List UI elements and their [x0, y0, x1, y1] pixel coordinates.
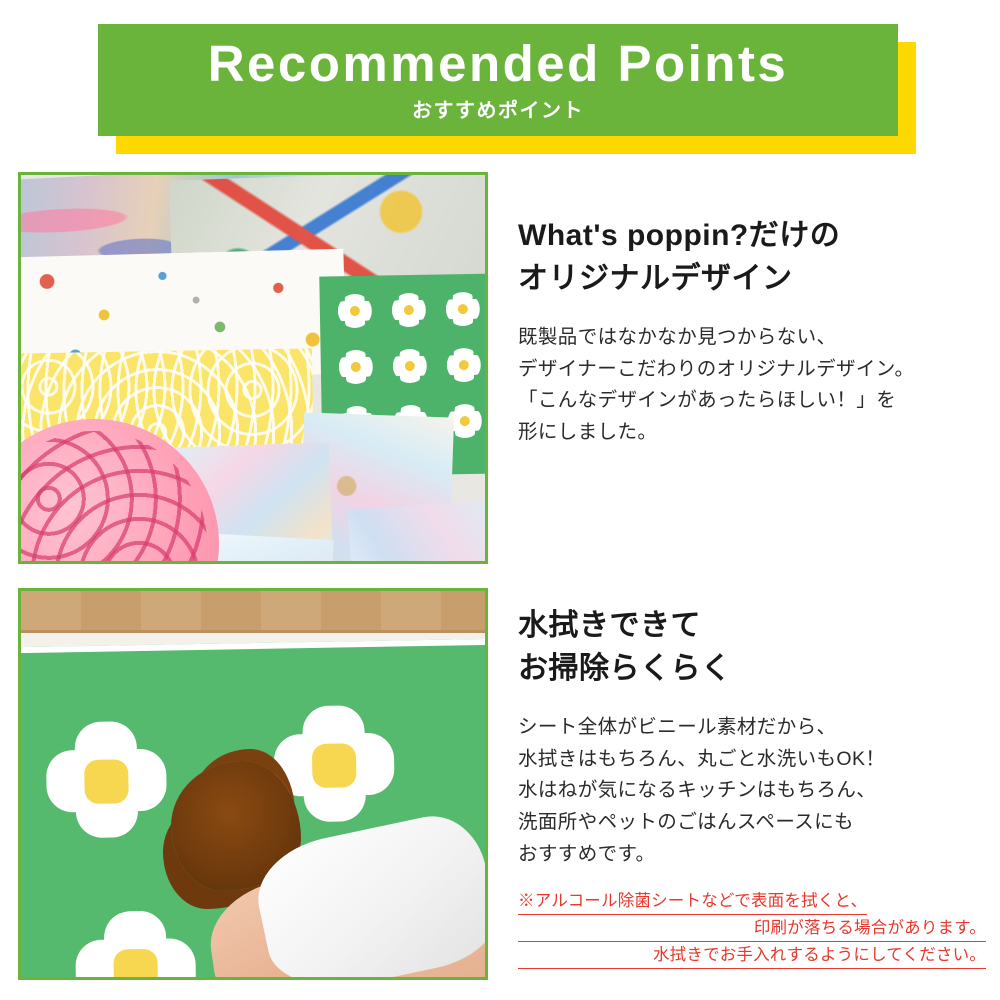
header-banner: Recommended Points おすすめポイント [98, 24, 916, 154]
section-2-body-line-4: 洗面所やペットのごはんスペースにも [518, 807, 986, 839]
flower-icon [446, 292, 481, 327]
flower-icon [79, 914, 193, 980]
section-2-body-line-5: おすすめです。 [518, 839, 986, 871]
flower-icon [339, 350, 374, 385]
section-1-body-line-2: デザイナーこだわりのオリジナルデザイン。 [518, 354, 986, 386]
section-1-body: 既製品ではなかなか見つからない、 デザイナーこだわりのオリジナルデザイン。 「こ… [518, 322, 986, 448]
section-1-heading-line-1: What's poppin?だけの [518, 215, 986, 258]
section-2-text: 水拭きできて お掃除らくらく シート全体がビニール素材だから、 水拭きはもちろん… [518, 605, 986, 969]
section-2-photo [18, 588, 488, 980]
section-2-body-line-3: 水はねが気になるキッチンはもちろん、 [518, 775, 986, 807]
section-2-heading: 水拭きできて お掃除らくらく [518, 605, 986, 690]
section-2-body-line-2: 水拭きはもちろん、丸ごと水洗いもOK！ [518, 744, 986, 776]
section-1-photo [18, 172, 488, 564]
page-subtitle: おすすめポイント [412, 94, 584, 123]
flower-icon [392, 293, 427, 328]
wipe-demo-illustration [21, 591, 485, 977]
flower-icon [338, 294, 373, 329]
section-1-body-line-1: 既製品ではなかなか見つからない、 [518, 322, 986, 354]
section-2-note: ※アルコール除菌シートなどで表面を拭くと、 印刷が落ちる場合があります。 水拭き… [518, 888, 986, 969]
flower-icon [393, 349, 428, 384]
section-1-text: What's poppin?だけの オリジナルデザイン 既製品ではなかなか見つか… [518, 215, 986, 449]
section-2-body-line-1: シート全体がビニール素材だから、 [518, 712, 986, 744]
flower-icon [49, 725, 163, 839]
section-1-body-line-4: 形にしました。 [518, 417, 986, 449]
page-root: Recommended Points おすすめポイント [0, 0, 1000, 1000]
section-2-heading-line-2: お掃除らくらく [518, 648, 986, 691]
section-2-heading-line-1: 水拭きできて [518, 605, 986, 648]
flower-icon [447, 348, 482, 383]
sheet-marble-c [347, 500, 488, 564]
section-2-note-line-3: 水拭きでお手入れするようにしてください。 [518, 942, 986, 969]
section-1-heading-line-2: オリジナルデザイン [518, 258, 986, 301]
section-2-note-line-2: 印刷が落ちる場合があります。 [518, 915, 986, 942]
section-1-heading: What's poppin?だけの オリジナルデザイン [518, 215, 986, 300]
section-1-body-line-3: 「こんなデザインがあったらほしい！」を [518, 385, 986, 417]
banner-green: Recommended Points おすすめポイント [98, 24, 898, 136]
section-2-body: シート全体がビニール素材だから、 水拭きはもちろん、丸ごと水洗いもOK！ 水はね… [518, 712, 986, 870]
design-sheets-illustration [21, 175, 485, 561]
section-2-note-line-1: ※アルコール除菌シートなどで表面を拭くと、 [518, 888, 867, 915]
wood-floor [21, 591, 485, 633]
page-title: Recommended Points [208, 37, 789, 91]
